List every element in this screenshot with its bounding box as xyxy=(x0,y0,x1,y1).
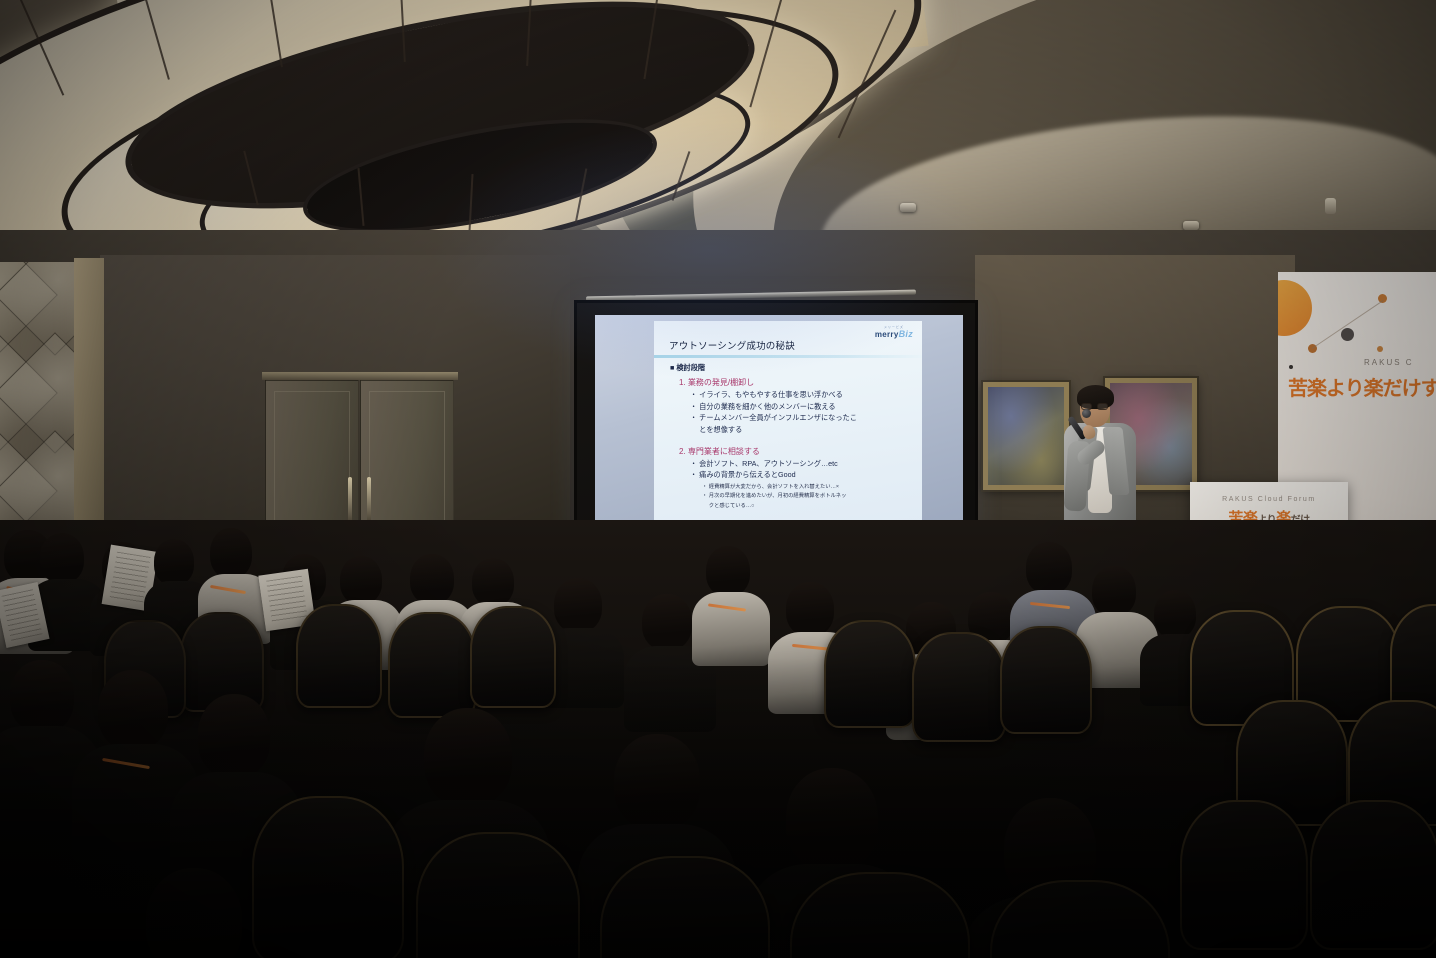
audience-head xyxy=(424,708,512,806)
audience-head xyxy=(410,554,454,604)
diamond-quilted-wall-panel xyxy=(0,262,80,562)
podium-eyebrow: RAKUS Cloud Forum xyxy=(1190,496,1348,503)
slide-item-1-bullet: ・ 自分の業務を細かく他のメンバーに教える xyxy=(690,402,916,412)
audience-head xyxy=(1026,542,1072,594)
audience-head xyxy=(786,768,878,870)
slide-item-2-subbullet: クと感じている…○ xyxy=(702,501,916,509)
audience-head xyxy=(210,528,252,578)
merrybiz-logo: メリービズ merryBiz xyxy=(875,325,913,339)
slide-item-1-bullet: ・ イライラ、もやもやする仕事を思い浮かべる xyxy=(690,390,916,400)
banner-connector-line xyxy=(1312,300,1384,349)
banquet-chair xyxy=(1000,626,1092,734)
banquet-chair xyxy=(1180,800,1308,950)
slide-item-2-bullet: ・ 痛みの背景から伝えるとGood xyxy=(690,470,916,480)
backdrop-eyebrow: RAKUS C xyxy=(1364,358,1414,367)
slide-item-1-number: 1. 業務の発見/棚卸し xyxy=(679,377,916,388)
conference-hall-photo: メリービズ merryBiz アウトソーシング成功の秘訣 ■ 検討段階 1. 業… xyxy=(0,0,1436,958)
audience-head xyxy=(98,670,168,750)
audience-torso xyxy=(692,592,770,666)
audience-head xyxy=(614,734,700,830)
slide-item-2-bullet: ・ 会計ソフト、RPA、アウトソーシング…etc xyxy=(690,459,916,469)
slide-item-2-subbullet: ・ 経費精算が大変だから、会計ソフトを入れ替えたい…× xyxy=(702,482,916,490)
quilt-tile xyxy=(0,262,80,356)
backdrop-headline-a: 苦楽 xyxy=(1288,378,1326,400)
door-frame-header xyxy=(262,372,458,380)
ceiling-spotlight xyxy=(900,203,916,212)
audience-head xyxy=(642,594,692,650)
slide-item-2-number: 2. 専門業者に相談する xyxy=(679,446,916,457)
logo-wordmark: merry xyxy=(875,330,899,339)
audience-head xyxy=(146,868,242,958)
slide-body: ■ 検討段階 1. 業務の発見/棚卸し ・ イライラ、もやもやする仕事を思い浮か… xyxy=(670,363,916,509)
audience-head xyxy=(198,694,270,778)
audience-head xyxy=(154,539,194,585)
audience-head xyxy=(1092,566,1136,616)
audience-head xyxy=(340,556,382,604)
audience-head xyxy=(786,582,834,636)
lens-right xyxy=(1097,403,1108,410)
logo-biz: Biz xyxy=(899,329,913,339)
banquet-chair xyxy=(388,612,476,718)
backdrop-headline-e: するため xyxy=(1421,378,1436,400)
banquet-chair xyxy=(1310,800,1436,950)
audience-head xyxy=(1154,590,1196,638)
backdrop-headline-d: だけ xyxy=(1383,378,1421,400)
banquet-chair xyxy=(470,606,556,708)
audience-head xyxy=(40,533,84,583)
slide-item-1-bullet: とを想像する xyxy=(690,425,916,435)
slide-item-1-bullet: ・ チームメンバー全員がインフルエンザになったこ xyxy=(690,413,916,423)
backdrop-headline-b: より xyxy=(1326,378,1364,400)
banquet-chair xyxy=(824,620,916,728)
audience-head xyxy=(472,558,514,606)
banner-dot xyxy=(1377,346,1383,352)
banquet-chair xyxy=(296,604,382,708)
screen-surface: メリービズ merryBiz アウトソーシング成功の秘訣 ■ 検討段階 1. 業… xyxy=(595,315,963,543)
backdrop-headline-c: 楽 xyxy=(1364,378,1383,400)
ceiling-spotlight xyxy=(1183,221,1199,230)
slide-title: アウトソーシング成功の秘訣 xyxy=(669,338,795,352)
backdrop-headline: 苦楽より楽だけするため xyxy=(1288,372,1436,401)
banquet-chair xyxy=(416,832,580,958)
banquet-chair xyxy=(912,632,1006,742)
audience-head xyxy=(554,578,602,632)
slide-item-2-subbullet: ・ 月次の早期化を進めたいが、月初の経費精算をボトルネッ xyxy=(702,491,916,499)
banner-dot-dark xyxy=(1341,328,1354,341)
presentation-slide: メリービズ merryBiz アウトソーシング成功の秘訣 ■ 検討段階 1. 業… xyxy=(654,321,922,541)
slide-section-heading: ■ 検討段階 xyxy=(670,363,916,373)
handout-text-lines xyxy=(2,589,43,641)
handout-text-lines xyxy=(266,575,308,624)
microphone-head xyxy=(1082,409,1091,418)
slide-title-rule xyxy=(654,355,922,358)
banner-dot xyxy=(1289,365,1293,369)
banner-dot-large xyxy=(1278,280,1312,336)
audience-head xyxy=(10,660,74,732)
audience-head xyxy=(706,546,750,596)
track-light-head xyxy=(1325,198,1336,214)
banquet-chair xyxy=(252,796,404,958)
